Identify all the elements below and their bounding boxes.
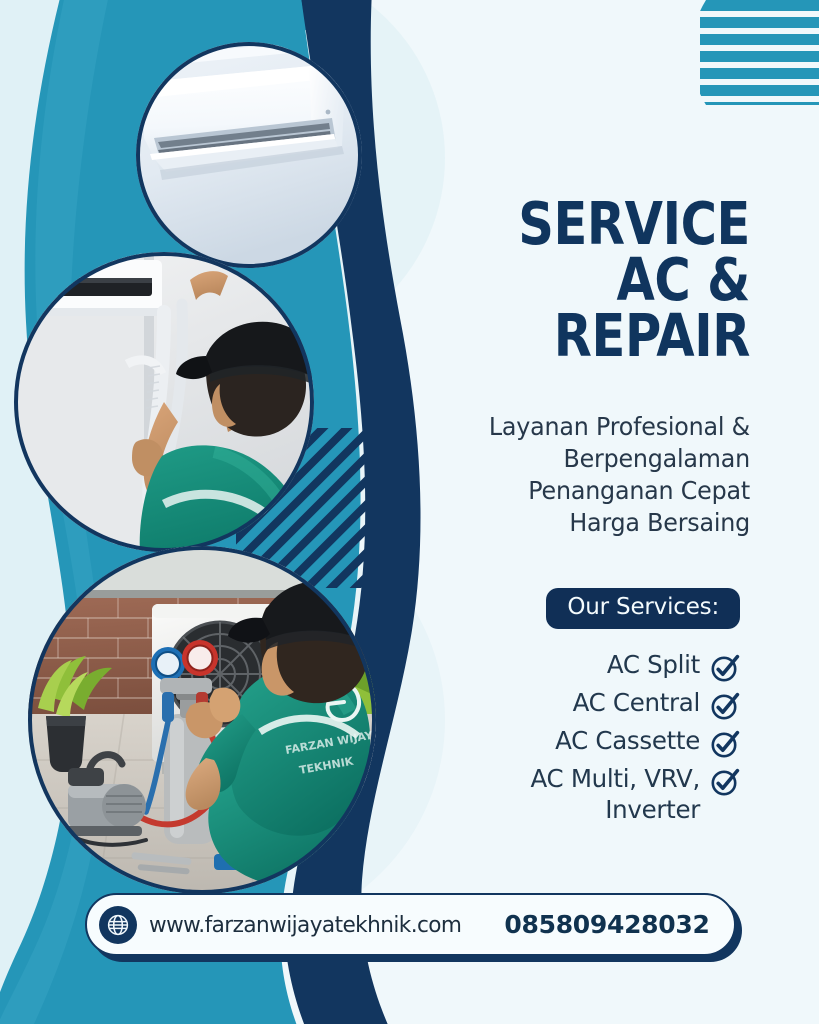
service-label: AC Multi, VRV, Inverter	[465, 764, 700, 826]
headline-line-1: SERVICE AC &	[518, 189, 750, 314]
footer-contact-bar: www.farzanwijayatekhnik.com 085809428032	[85, 893, 736, 956]
striped-quarter-circle-top-right	[700, 0, 819, 110]
services-badge: Our Services:	[546, 588, 740, 629]
subheadline: Layanan Profesional & Berpengalaman Pena…	[403, 411, 750, 538]
poster-canvas: FARZAN WIJAYA TEKHNIK	[0, 0, 819, 1024]
headline-line-2: REPAIR	[449, 308, 750, 364]
page-title: SERVICE AC & REPAIR	[449, 196, 750, 364]
subheadline-line-2: Berpengalaman	[403, 443, 750, 475]
service-label: AC Central	[573, 688, 700, 719]
service-label: AC Split	[607, 650, 700, 681]
phone-number[interactable]: 085809428032	[504, 910, 709, 939]
check-circle-icon	[710, 653, 740, 683]
services-list: AC Split AC Central AC Cassette	[410, 650, 740, 831]
photo-split-ac-unit	[136, 42, 362, 268]
check-circle-icon	[710, 691, 740, 721]
service-label: AC Cassette	[555, 726, 700, 757]
list-item: AC Cassette	[410, 726, 740, 759]
list-item: AC Split	[410, 650, 740, 683]
photo-technician-indoor	[14, 252, 314, 552]
subheadline-line-3: Penanganan Cepat	[403, 475, 750, 507]
globe-icon	[99, 906, 137, 944]
website-url[interactable]: www.farzanwijayatekhnik.com	[149, 912, 461, 938]
subheadline-line-4: Harga Bersaing	[403, 507, 750, 539]
check-circle-icon	[710, 729, 740, 759]
list-item: AC Central	[410, 688, 740, 721]
photo-technician-outdoor: FARZAN WIJAYA TEKHNIK	[28, 546, 376, 894]
subheadline-line-1: Layanan Profesional &	[403, 411, 750, 443]
list-item: AC Multi, VRV, Inverter	[410, 764, 740, 826]
check-circle-icon	[710, 767, 740, 797]
